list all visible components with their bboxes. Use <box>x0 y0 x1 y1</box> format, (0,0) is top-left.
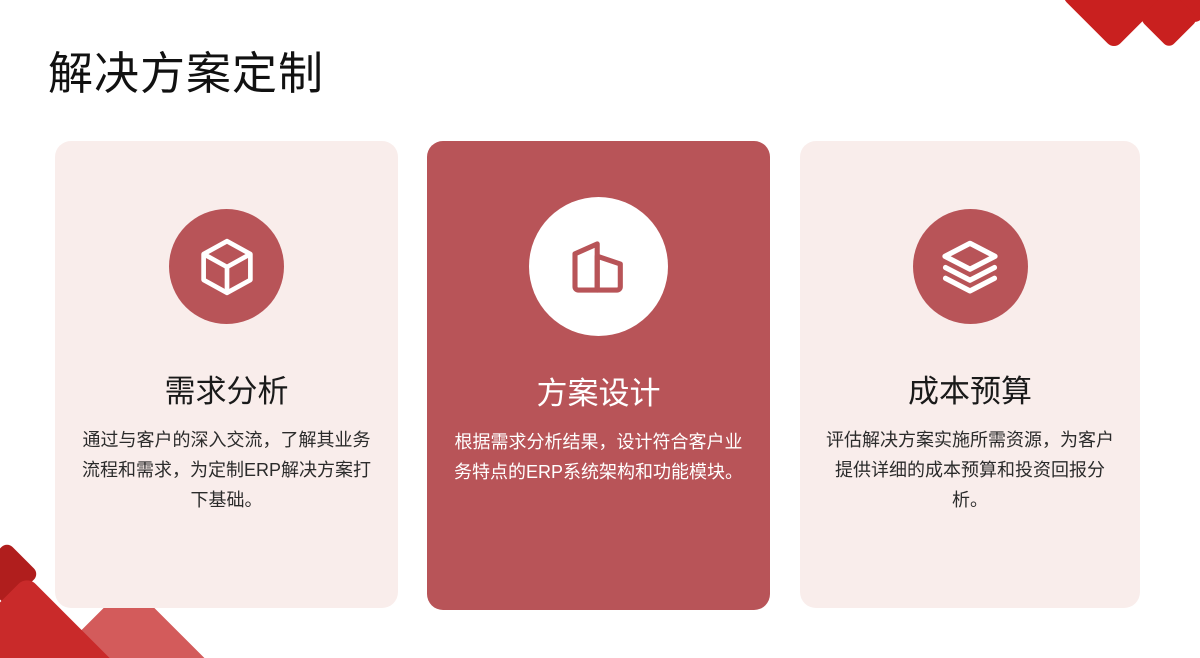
card-title: 成本预算 <box>908 373 1032 411</box>
card-cost-budget[interactable]: 成本预算 评估解决方案实施所需资源，为客户提供详细的成本预算和投资回报分析。 <box>800 141 1140 608</box>
card-group: 需求分析 通过与客户的深入交流，了解其业务流程和需求，为定制ERP解决方案打下基… <box>0 0 1200 658</box>
card-title: 方案设计 <box>537 375 661 413</box>
cube-icon <box>169 209 284 324</box>
card-body: 根据需求分析结果，设计符合客户业务特点的ERP系统架构和功能模块。 <box>427 427 770 487</box>
card-solution-design[interactable]: 方案设计 根据需求分析结果，设计符合客户业务特点的ERP系统架构和功能模块。 <box>427 141 770 610</box>
card-body: 通过与客户的深入交流，了解其业务流程和需求，为定制ERP解决方案打下基础。 <box>55 425 398 515</box>
card-requirement-analysis[interactable]: 需求分析 通过与客户的深入交流，了解其业务流程和需求，为定制ERP解决方案打下基… <box>55 141 398 608</box>
card-body: 评估解决方案实施所需资源，为客户提供详细的成本预算和投资回报分析。 <box>800 425 1140 515</box>
card-title: 需求分析 <box>165 373 289 411</box>
slide-canvas: 解决方案定制 需求分析 通过与客户的深入交流，了解其业务流程和需求，为定制ERP… <box>0 0 1200 658</box>
building-icon <box>529 197 668 336</box>
layers-icon <box>913 209 1028 324</box>
